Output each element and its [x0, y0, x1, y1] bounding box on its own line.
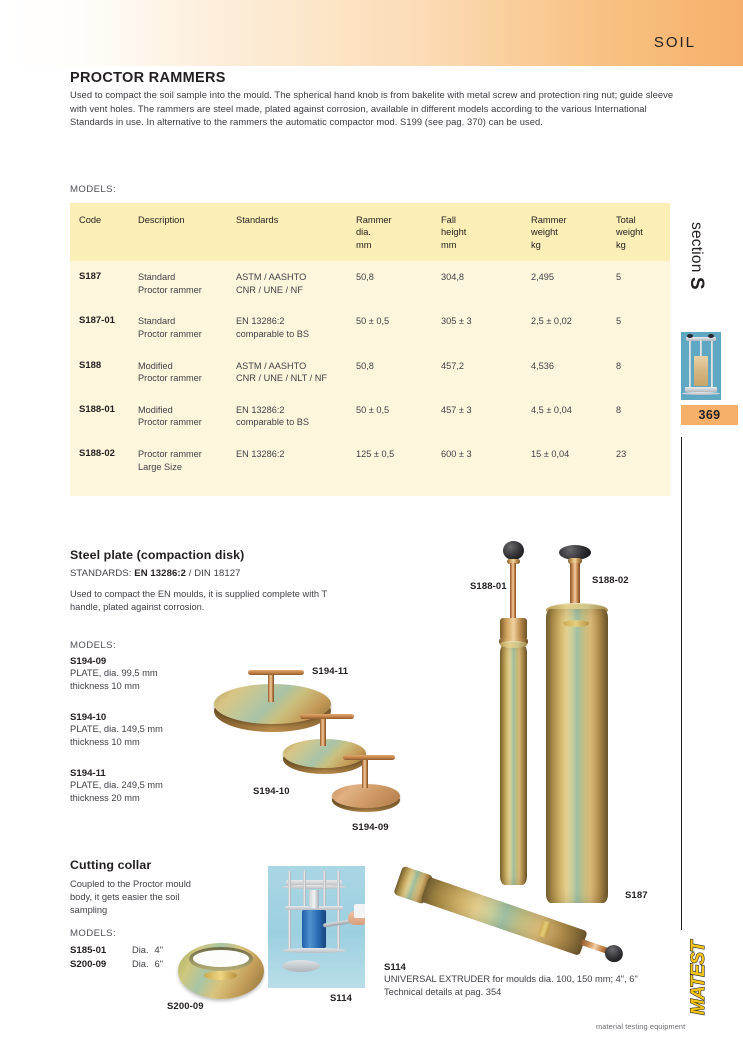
std-line-1: ASTM / AASHTO: [236, 361, 306, 371]
sidebar-vertical-rule: [681, 437, 682, 930]
t-handle-stem: [268, 672, 274, 702]
cell-description: Proctor rammer Large Size: [138, 438, 236, 482]
column-header-rammer-dia: Rammer dia. mm: [356, 203, 441, 261]
desc-line-2: Large Size: [138, 462, 182, 472]
standards-label: STANDARDS:: [70, 568, 132, 579]
table-row: S188-01 Modified Proctor rammer EN 13286…: [70, 394, 670, 438]
footer-tagline: material testing equipment: [596, 1022, 685, 1031]
cell-code: S187: [70, 261, 138, 305]
rammer-body: [546, 609, 608, 903]
cell-rammer-weight: 2,5 ± 0,02: [531, 305, 616, 349]
thumb-knob-right: [708, 334, 714, 338]
cell-total-weight: 8: [616, 394, 670, 438]
header-line-1: Rammer: [356, 215, 392, 225]
brand-decal: [204, 971, 237, 980]
thumb-post-right: [711, 341, 713, 389]
std-line-1: EN 13286:2: [236, 405, 285, 415]
desc-line-1: Modified: [138, 405, 173, 415]
cell-code: S188-01: [70, 394, 138, 438]
cell-rammer-weight: 15 ± 0,04: [531, 438, 616, 482]
collar-dia-value: 4": [155, 944, 163, 958]
page-header-band: [0, 0, 743, 66]
header-line-3: mm: [356, 240, 372, 250]
matest-brand-logo-icon: MATEST: [678, 935, 712, 1021]
cell-fall-height: 600 ± 3: [441, 438, 531, 482]
cell-standards: ASTM / AASHTO CNR / UNE / NLT / NF: [236, 350, 356, 394]
section-tab-label: section S: [681, 222, 707, 332]
t-handle-bar: [248, 670, 304, 675]
svg-text:MATEST: MATEST: [688, 939, 709, 1015]
plate-code: S194-09: [70, 656, 230, 667]
cutting-collar-heading: Cutting collar: [70, 858, 151, 872]
thumb-knob-left: [687, 334, 693, 338]
header-line-1: Total: [616, 215, 636, 225]
cell-description: Standard Proctor rammer: [138, 305, 236, 349]
std-line-2: comparable to BS: [236, 417, 309, 427]
cell-total-weight: 5: [616, 261, 670, 305]
guide-rod: [510, 563, 516, 623]
brand-logo-svg: MATEST: [678, 935, 712, 1021]
figure-label-s194-10: S194-10: [253, 786, 290, 797]
intro-paragraph: Used to compact the soil sample into the…: [70, 88, 680, 129]
extruder-foot-disk: [282, 960, 320, 972]
desc-line-2: Proctor rammer: [138, 373, 202, 383]
t-handle-bar: [300, 714, 354, 719]
list-item: S194-10 PLATE, dia. 149,5 mm thickness 1…: [70, 712, 230, 749]
list-item: S194-09 PLATE, dia. 99,5 mm thickness 10…: [70, 656, 230, 693]
steel-plate-description: Used to compact the EN moulds, it is sup…: [70, 588, 350, 614]
photo-universal-extruder-s114: [268, 866, 365, 988]
cell-fall-height: 304,8: [441, 261, 531, 305]
header-line-2: weight: [616, 227, 643, 237]
desc-line-1: Standard: [138, 316, 175, 326]
column-header-rammer-weight: Rammer weight kg: [531, 203, 616, 261]
column-header-total-weight: Total weight kg: [616, 203, 670, 261]
plate-line-1: PLATE, dia. 149,5 mm: [70, 723, 230, 736]
std-line-2: comparable to BS: [236, 329, 309, 339]
cutting-collar-description: Coupled to the Proctor mould body, it ge…: [70, 878, 205, 917]
std-line-1: ASTM / AASHTO: [236, 272, 306, 282]
header-line-2: dia.: [356, 227, 371, 237]
plate-code: S194-10: [70, 712, 230, 723]
std-line-2: CNR / UNE / NLT / NF: [236, 373, 327, 383]
extruder-post-4: [337, 871, 340, 949]
figure-label-s188-01: S188-01: [470, 581, 507, 592]
header-line-1: Rammer: [531, 215, 567, 225]
cell-total-weight: 5: [616, 305, 670, 349]
brand-decal: [563, 620, 589, 627]
figure-label-s194-11: S194-11: [312, 666, 348, 677]
standards-secondary: / DIN 18127: [186, 568, 241, 579]
cell-rammer-dia: 125 ± 0,5: [356, 438, 441, 482]
plate-line-2: thickness 20 mm: [70, 792, 230, 805]
thumb-sample-core: [694, 356, 708, 386]
collar-dia-label: Dia.: [132, 958, 149, 972]
steel-plate-standards: STANDARDS: EN 13286:2 / DIN 18127: [70, 568, 241, 579]
extruder-base-plate: [282, 948, 346, 953]
proctor-mould-thumbnail-icon: [681, 332, 721, 400]
header-line-3: kg: [616, 240, 626, 250]
models-label-cutting-collar: MODELS:: [70, 928, 116, 939]
thumb-foot: [682, 392, 720, 395]
page-title: SOIL: [654, 34, 696, 51]
figure-label-s194-09: S194-09: [352, 822, 389, 833]
cell-fall-height: 305 ± 3: [441, 305, 531, 349]
thumb-post-left: [689, 341, 691, 389]
models-label-steel-plate: MODELS:: [70, 640, 116, 651]
collar-code: S200-09: [70, 958, 126, 972]
photo-cutting-collar-s200-09: [178, 943, 264, 999]
plate-code: S194-11: [70, 768, 230, 779]
figure-label-s114: S114: [330, 993, 352, 1004]
collar-dia-label: Dia.: [132, 944, 149, 958]
plate-line-2: thickness 10 mm: [70, 680, 230, 693]
header-line-1: Fall: [441, 215, 456, 225]
column-header-description: Description: [138, 203, 236, 261]
plate-line-2: thickness 10 mm: [70, 736, 230, 749]
std-line-2: CNR / UNE / NF: [236, 285, 303, 295]
figure-label-s187: S187: [625, 890, 648, 901]
cell-rammer-dia: 50,8: [356, 350, 441, 394]
collar-dia-value: 6": [155, 958, 163, 972]
plate-line-1: PLATE, dia. 249,5 mm: [70, 779, 230, 792]
cell-rammer-dia: 50 ± 0,5: [356, 305, 441, 349]
cell-code: S187-01: [70, 305, 138, 349]
desc-line-2: Proctor rammer: [138, 417, 202, 427]
cell-rammer-dia: 50 ± 0,5: [356, 394, 441, 438]
cell-standards: EN 13286:2: [236, 438, 356, 482]
cell-code: S188-02: [70, 438, 138, 482]
extruder-ram-rod: [309, 890, 319, 908]
cell-description: Standard Proctor rammer: [138, 261, 236, 305]
desc-line-1: Standard: [138, 272, 175, 282]
rammer-body-top: [500, 641, 527, 648]
list-item: S194-11 PLATE, dia. 249,5 mm thickness 2…: [70, 768, 230, 805]
header-line-2: height: [441, 227, 466, 237]
table-row: S188 Modified Proctor rammer ASTM / AASH…: [70, 350, 670, 394]
figure-label-s200-09: S200-09: [167, 1001, 204, 1012]
cell-rammer-weight: 4,5 ± 0,04: [531, 394, 616, 438]
steel-plate-heading: Steel plate (compaction disk): [70, 548, 244, 562]
section-tab-text: section: [688, 222, 705, 277]
section-heading: PROCTOR RAMMERS: [70, 70, 226, 86]
rammers-models-table: Code Description Standards Rammer dia. m…: [70, 203, 670, 496]
t-handle-stem: [362, 758, 368, 788]
cell-code: S188: [70, 350, 138, 394]
header-line-2: weight: [531, 227, 558, 237]
extruder-line-2: Technical details at pag. 354: [384, 987, 501, 997]
operator-sleeve: [354, 904, 365, 918]
cell-standards: ASTM / AASHTO CNR / UNE / NF: [236, 261, 356, 305]
table-bottom-spacer: [70, 482, 670, 496]
plate-line-1: PLATE, dia. 99,5 mm: [70, 667, 230, 680]
std-line-1: EN 13286:2: [236, 316, 285, 326]
desc-line-1: Modified: [138, 361, 173, 371]
cell-rammer-dia: 50,8: [356, 261, 441, 305]
column-header-standards: Standards: [236, 203, 356, 261]
cell-description: Modified Proctor rammer: [138, 394, 236, 438]
section-tab-letter: S: [686, 277, 707, 290]
cell-rammer-weight: 4,536: [531, 350, 616, 394]
extruder-line-1: UNIVERSAL EXTRUDER for moulds dia. 100, …: [384, 974, 638, 984]
extruder-hydraulic-jack: [302, 910, 326, 948]
extruder-description: UNIVERSAL EXTRUDER for moulds dia. 100, …: [384, 973, 674, 999]
models-label-rammers: MODELS:: [70, 184, 116, 195]
table-row: S187 Standard Proctor rammer ASTM / AASH…: [70, 261, 670, 305]
t-handle-bar: [343, 755, 395, 760]
collar-bore: [193, 950, 249, 967]
desc-line-1: Proctor rammer: [138, 449, 202, 459]
desc-line-2: Proctor rammer: [138, 329, 202, 339]
std-line-1: EN 13286:2: [236, 449, 285, 459]
cell-fall-height: 457,2: [441, 350, 531, 394]
cell-total-weight: 23: [616, 438, 670, 482]
table-header-row: Code Description Standards Rammer dia. m…: [70, 203, 670, 261]
cell-total-weight: 8: [616, 350, 670, 394]
table-row: S187-01 Standard Proctor rammer EN 13286…: [70, 305, 670, 349]
collar-code: S185-01: [70, 944, 126, 958]
cell-standards: EN 13286:2 comparable to BS: [236, 305, 356, 349]
desc-line-2: Proctor rammer: [138, 285, 202, 295]
guide-sleeve-head: [500, 618, 527, 640]
column-header-code: Code: [70, 203, 138, 261]
rammer-body: [500, 644, 527, 885]
header-line-3: mm: [441, 240, 457, 250]
knob-icon: [503, 541, 524, 560]
cell-fall-height: 457 ± 3: [441, 394, 531, 438]
cell-rammer-weight: 2,495: [531, 261, 616, 305]
t-handle-stem: [320, 717, 326, 746]
standards-primary: EN 13286:2: [134, 568, 186, 579]
column-header-fall-height: Fall height mm: [441, 203, 531, 261]
cell-description: Modified Proctor rammer: [138, 350, 236, 394]
extruder-post-1: [288, 871, 291, 949]
table-row: S188-02 Proctor rammer Large Size EN 132…: [70, 438, 670, 482]
header-line-3: kg: [531, 240, 541, 250]
cell-standards: EN 13286:2 comparable to BS: [236, 394, 356, 438]
figure-label-s188-02: S188-02: [592, 575, 629, 586]
page-number-badge: 369: [681, 405, 738, 425]
